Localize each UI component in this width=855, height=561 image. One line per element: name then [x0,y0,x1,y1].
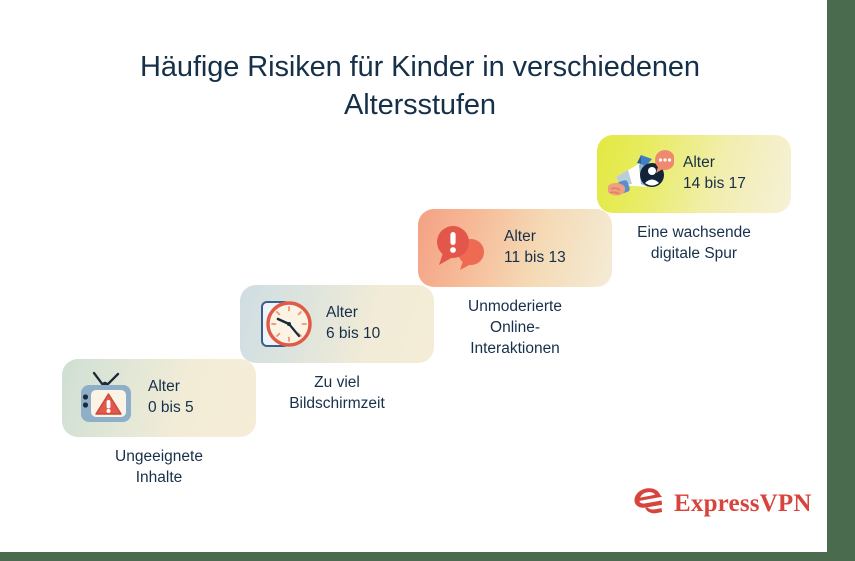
chat-bubbles-warning-icon [429,220,495,276]
bottom-border-accent [0,552,855,561]
page-title: Häufige Risiken für Kinder in verschiede… [70,48,770,125]
expressvpn-wordmark: ExpressVPN [674,490,812,518]
age-label-2: Alter 6 bis 10 [326,303,380,345]
age-label-1: Alter 0 bis 5 [148,377,194,419]
step-caption-1: Ungeeignete Inhalte [62,447,256,489]
phone-clock-icon [251,296,317,352]
megaphone-profile-icon [608,146,674,202]
card-body-2: Alter 6 bis 10 [240,285,434,363]
step-card-3: Alter 11 bis 13 Unmoderierte Online- Int… [418,209,612,360]
step-card-1: Alter 0 bis 5 Ungeeignete Inhalte [62,359,256,489]
step-caption-3: Unmoderierte Online- Interaktionen [418,297,612,360]
step-caption-4: Eine wachsende digitale Spur [597,223,791,265]
step-card-4: Alter 14 bis 17 Eine wachsende digitale … [597,135,791,265]
right-border-accent [827,0,855,561]
step-caption-2: Zu viel Bildschirmzeit [240,373,434,415]
tv-warning-icon [73,370,139,426]
step-card-2: Alter 6 bis 10 Zu viel Bildschirmzeit [240,285,434,415]
expressvpn-e-mark-icon [633,487,665,520]
age-label-4: Alter 14 bis 17 [683,153,746,195]
expressvpn-logo: ExpressVPN [633,487,812,520]
card-body-1: Alter 0 bis 5 [62,359,256,437]
card-body-4: Alter 14 bis 17 [597,135,791,213]
infographic-canvas: Häufige Risiken für Kinder in verschiede… [0,0,855,561]
age-label-3: Alter 11 bis 13 [504,227,566,269]
card-body-3: Alter 11 bis 13 [418,209,612,287]
